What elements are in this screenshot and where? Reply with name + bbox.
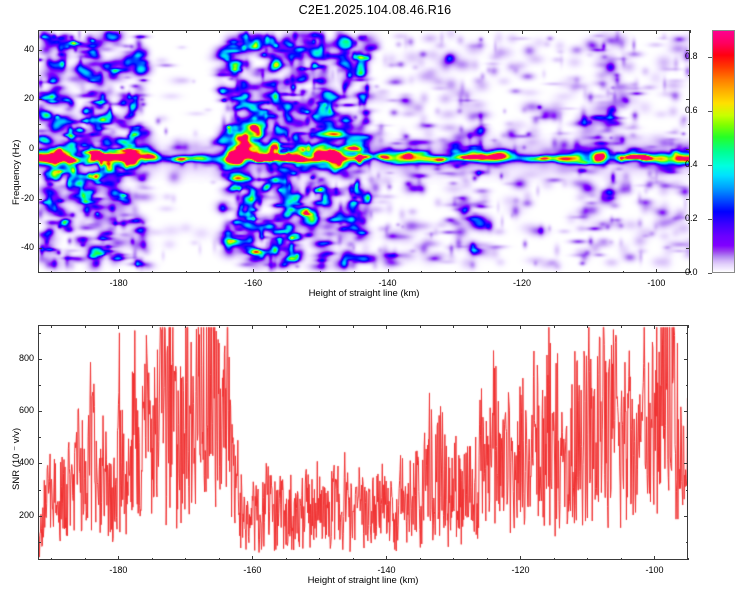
colorbar-tick-label: 0.6	[685, 105, 698, 115]
spectrogram-x-minor-tick-top	[589, 30, 590, 33]
spectrogram-plot-area[interactable]	[38, 30, 690, 273]
spectrogram-y-tick-right	[686, 149, 690, 150]
spectrogram-x-minor-tick-top	[85, 30, 86, 33]
snr-y-tick-right	[684, 359, 688, 360]
snr-y-minor-tick	[38, 437, 41, 438]
snr-x-tick-label: -160	[229, 565, 275, 575]
snr-y-tick	[38, 359, 42, 360]
colorbar-tick-label: 0.0	[685, 267, 698, 277]
spectrogram-x-minor-tick-top	[556, 30, 557, 33]
snr-x-minor-tick	[185, 558, 186, 561]
spectrogram-x-minor-tick-top	[690, 30, 691, 33]
snr-y-tick-right	[684, 411, 688, 412]
snr-x-minor-tick-top	[621, 325, 622, 328]
spectrogram-y-minor-tick-right	[688, 124, 691, 125]
snr-y-tick	[38, 463, 42, 464]
snr-x-minor-tick-top	[219, 325, 220, 328]
snr-x-minor-tick-top	[85, 325, 86, 328]
snr-y-tick-label: 200	[4, 510, 34, 520]
snr-x-tick	[520, 556, 521, 560]
snr-x-minor-tick-top	[688, 325, 689, 328]
spectrogram-y-tick	[38, 50, 42, 51]
spectrogram-y-minor-tick-right	[688, 174, 691, 175]
spectrogram-x-tick-top	[388, 30, 389, 34]
snr-y-tick	[38, 516, 42, 517]
snr-x-minor-tick	[51, 558, 52, 561]
colorbar-tick	[708, 57, 712, 58]
spectrogram-y-tick	[38, 149, 42, 150]
spectrogram-x-minor-tick-top	[186, 30, 187, 33]
snr-y-minor-tick-right	[686, 333, 689, 334]
snr-x-tick	[118, 556, 119, 560]
spectrogram-x-minor-tick	[152, 271, 153, 274]
snr-x-tick-label: -100	[631, 565, 677, 575]
snr-x-tick	[654, 556, 655, 560]
spectrogram-y-tick-label: 40	[4, 44, 34, 54]
colorbar-tick-label: 0.2	[685, 213, 698, 223]
spectrogram-x-tick-top	[522, 30, 523, 34]
spectrogram-x-minor-tick	[421, 271, 422, 274]
spectrogram-x-minor-tick-top	[287, 30, 288, 33]
spectrogram-x-minor-tick	[488, 271, 489, 274]
spectrogram-x-minor-tick-top	[421, 30, 422, 33]
spectrogram-y-tick	[38, 248, 42, 249]
spectrogram-x-tick-label: -120	[499, 278, 545, 288]
snr-x-minor-tick-top	[185, 325, 186, 328]
spectrogram-x-minor-tick-top	[320, 30, 321, 33]
snr-x-minor-tick	[353, 558, 354, 561]
snr-x-minor-tick-top	[319, 325, 320, 328]
spectrogram-x-tick	[656, 269, 657, 273]
snr-x-minor-tick-top	[487, 325, 488, 328]
spectrogram-y-tick-label: 20	[4, 93, 34, 103]
snr-x-tick-top	[654, 325, 655, 329]
spectrogram-x-minor-tick	[589, 271, 590, 274]
spectrogram-x-tick-top	[656, 30, 657, 34]
snr-x-tick-top	[386, 325, 387, 329]
snr-x-minor-tick	[621, 558, 622, 561]
snr-x-minor-tick-top	[152, 325, 153, 328]
spectrogram-x-minor-tick	[85, 271, 86, 274]
spectrogram-x-minor-tick-top	[354, 30, 355, 33]
spectrogram-x-minor-tick	[354, 271, 355, 274]
snr-trace	[39, 326, 688, 560]
spectrogram-y-tick	[38, 99, 42, 100]
spectrogram-x-tick-label: -140	[365, 278, 411, 288]
snr-y-minor-tick-right	[686, 490, 689, 491]
snr-x-minor-tick-top	[353, 325, 354, 328]
colorbar-tick	[708, 273, 712, 274]
spectrogram-y-minor-tick	[38, 75, 41, 76]
snr-y-tick-right	[684, 516, 688, 517]
colorbar-tick	[708, 219, 712, 220]
snr-x-minor-tick	[587, 558, 588, 561]
spectrogram-x-tick	[388, 269, 389, 273]
spectrogram-y-tick-right	[686, 99, 690, 100]
spectrogram-y-minor-tick-right	[688, 75, 691, 76]
spectrogram-x-tick-label: -180	[96, 278, 142, 288]
spectrogram-x-minor-tick	[186, 271, 187, 274]
snr-y-tick-right	[684, 463, 688, 464]
spectrogram-y-minor-tick-right	[688, 223, 691, 224]
snr-y-minor-tick	[38, 542, 41, 543]
spectrogram-x-minor-tick	[51, 271, 52, 274]
snr-y-minor-tick	[38, 385, 41, 386]
spectrogram-y-minor-tick	[38, 223, 41, 224]
snr-y-minor-tick-right	[686, 385, 689, 386]
snr-x-minor-tick-top	[587, 325, 588, 328]
colorbar-tick-label: 0.4	[685, 159, 698, 169]
snr-x-minor-tick	[688, 558, 689, 561]
snr-x-axis-label: Height of straight line (km)	[238, 575, 488, 586]
spectrogram-x-tick-top	[119, 30, 120, 34]
spectrogram-x-minor-tick	[623, 271, 624, 274]
snr-x-tick	[252, 556, 253, 560]
snr-y-minor-tick	[38, 333, 41, 334]
colorbar-tick	[708, 111, 712, 112]
spectrogram-x-minor-tick	[287, 271, 288, 274]
spectrogram-y-tick-label: -40	[4, 242, 34, 252]
snr-x-minor-tick	[453, 558, 454, 561]
spectrogram-x-tick-top	[253, 30, 254, 34]
spectrogram-x-tick	[253, 269, 254, 273]
snr-x-minor-tick	[319, 558, 320, 561]
spectrogram-y-minor-tick	[38, 124, 41, 125]
snr-x-tick-label: -140	[363, 565, 409, 575]
colorbar-tick-label: 0.8	[685, 51, 698, 61]
snr-y-axis-label: SNR (10 ⁻ v/v)	[11, 428, 22, 490]
figure-title: C2E1.2025.104.08.46.R16	[0, 3, 750, 17]
snr-x-minor-tick	[487, 558, 488, 561]
snr-x-tick	[386, 556, 387, 560]
snr-x-minor-tick-top	[420, 325, 421, 328]
snr-x-minor-tick-top	[453, 325, 454, 328]
snr-x-minor-tick-top	[286, 325, 287, 328]
snr-x-minor-tick	[554, 558, 555, 561]
spectrogram-x-tick	[522, 269, 523, 273]
snr-plot-area[interactable]	[38, 325, 688, 560]
spectrogram-y-minor-tick	[38, 174, 41, 175]
snr-x-minor-tick-top	[51, 325, 52, 328]
snr-y-minor-tick-right	[686, 437, 689, 438]
snr-x-minor-tick	[286, 558, 287, 561]
snr-y-minor-tick	[38, 490, 41, 491]
spectrogram-x-minor-tick	[455, 271, 456, 274]
snr-y-tick-label: 600	[4, 405, 34, 415]
spectrogram-x-minor-tick-top	[219, 30, 220, 33]
spectrogram-x-minor-tick	[219, 271, 220, 274]
spectrogram-x-axis-label: Height of straight line (km)	[239, 288, 489, 299]
snr-x-tick-label: -180	[95, 565, 141, 575]
spectrogram-x-minor-tick-top	[623, 30, 624, 33]
snr-x-minor-tick-top	[554, 325, 555, 328]
spectrogram-x-minor-tick-top	[488, 30, 489, 33]
spectrogram-y-tick-right	[686, 199, 690, 200]
snr-x-tick-top	[118, 325, 119, 329]
spectrogram-y-axis-label: Frequency (Hz)	[11, 140, 22, 205]
spectrogram-x-tick-label: -160	[230, 278, 276, 288]
snr-y-tick-label: 800	[4, 353, 34, 363]
snr-x-tick-top	[252, 325, 253, 329]
spectrogram-x-minor-tick	[556, 271, 557, 274]
spectrogram-x-minor-tick-top	[455, 30, 456, 33]
spectrogram-x-tick	[119, 269, 120, 273]
spectrogram-y-tick	[38, 199, 42, 200]
snr-x-tick-top	[520, 325, 521, 329]
snr-x-minor-tick	[219, 558, 220, 561]
figure-canvas: C2E1.2025.104.08.46.R16 -180-160-140-120…	[0, 0, 750, 600]
colorbar-gradient[interactable]	[712, 30, 735, 273]
colorbar-tick	[708, 165, 712, 166]
spectrogram-image	[39, 31, 690, 273]
spectrogram-y-tick-right	[686, 248, 690, 249]
snr-x-minor-tick	[152, 558, 153, 561]
snr-x-minor-tick	[420, 558, 421, 561]
spectrogram-x-minor-tick	[320, 271, 321, 274]
snr-x-tick-label: -120	[497, 565, 543, 575]
snr-y-minor-tick-right	[686, 542, 689, 543]
spectrogram-x-minor-tick-top	[51, 30, 52, 33]
snr-y-tick	[38, 411, 42, 412]
snr-x-minor-tick	[85, 558, 86, 561]
spectrogram-x-minor-tick-top	[152, 30, 153, 33]
spectrogram-x-tick-label: -100	[633, 278, 679, 288]
